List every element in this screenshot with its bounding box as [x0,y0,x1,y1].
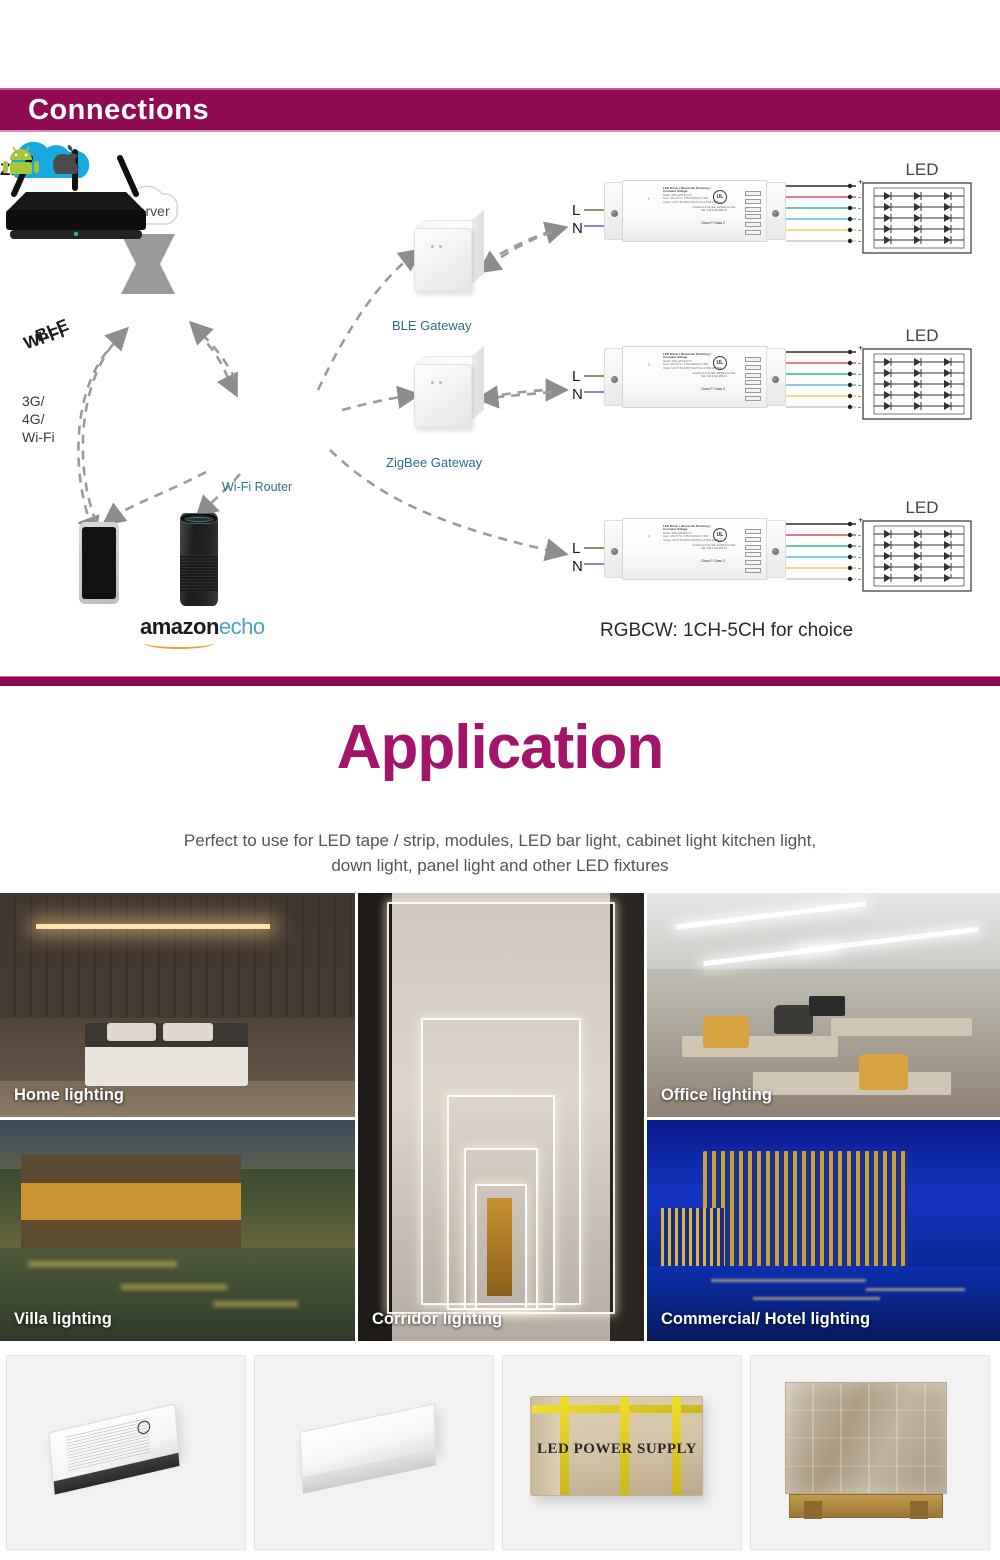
driver-side-print: IN [647,535,650,538]
ac-terminal-n-3: N [572,558,583,575]
connections-banner: Connections [0,88,1000,132]
led-array-2: LED [862,348,982,426]
photo-home-lighting: Home lighting [0,893,355,1117]
office-desk [753,1072,951,1094]
router-label: Wi-Fi Router [222,480,292,494]
svg-text:-: - [858,541,861,551]
ac-terminal-n-1: N [572,220,583,237]
application-subtitle-line2: down light, panel light and other LED fi… [100,853,900,878]
svg-text:-: - [858,192,861,202]
photo-caption: Home lighting [14,1086,124,1105]
gateway-side-face [472,346,484,420]
gateway-led-indicators [431,245,451,248]
packaging-photo-row: LED POWER SUPPLY [0,1355,1000,1560]
class-2: Class 2 [714,559,725,563]
led-driver-3: IN LED Driver ( Bluetooth Dimming ) Cons… [604,518,786,580]
smartphone-icon [79,522,119,604]
led-block-title: LED [862,326,982,346]
water-reflection [753,1297,880,1300]
cove-light-strip [36,924,270,929]
driver-output-terminals [745,191,761,235]
cellular-line-2: 4G/ [22,410,55,428]
section-divider [0,676,1000,686]
adjacent-building [661,1208,725,1265]
driver-class-markings: Class P Class 2 [691,559,735,564]
class-2: Class 2 [714,221,725,225]
driver-output: Output: 12V/7.5A 60W P.W.M 5CH & 50W-WW5… [663,367,722,370]
driver-body: IN LED Driver ( Bluetooth Dimming ) Cons… [622,346,768,408]
led-array-schematic [862,520,982,596]
application-subtitle-line1: Perfect to use for LED tape / strip, mod… [100,828,900,853]
driver-product-photo [48,1403,179,1485]
driver-body: IN LED Driver ( Bluetooth Dimming ) Cons… [622,518,768,580]
phone-screen [82,527,116,599]
driver-body: IN LED Driver ( Bluetooth Dimming ) Cons… [622,180,768,242]
cellular-line-3: Wi-Fi [22,428,55,446]
driver-output: Output: 12V/7.5A 60W P.W.M 5CH & 50W-WW5… [663,539,722,542]
ac-terminal-l-1: L [572,202,580,219]
driver-screw [772,376,779,383]
office-chair [774,1005,813,1034]
office-chair [859,1054,908,1090]
pool-reflection [28,1261,177,1267]
packaging-led-driver-unit [6,1355,246,1550]
driver-screw [772,210,779,217]
driver-mount-ear-left [604,348,624,406]
driver-subtitle: Constant Voltage [663,189,687,193]
driver-output-terminals [745,357,761,401]
svg-text:-: - [858,203,861,213]
echo-light-ring [185,517,213,522]
led-array-schematic [862,348,982,424]
driver-class-markings: Class P Class 2 [691,387,735,392]
ble-gateway-label: BLE Gateway [392,318,472,333]
svg-text:-: - [858,574,861,584]
svg-text:-: - [858,552,861,562]
gateway-front-face [414,364,472,428]
led-block-title: LED [862,160,982,180]
svg-text:-: - [858,391,861,401]
driver-subtitle: Constant Voltage [663,355,687,359]
svg-text:-: - [858,214,861,224]
zigbee-gateway-label: ZigBee Gateway [386,455,482,470]
ac-terminal-l-3: L [572,540,580,557]
packaging-export-carton: LED POWER SUPPLY [502,1355,742,1550]
wooden-skid [789,1494,943,1518]
zigbee-gateway-icon [414,356,488,430]
led-array-3: LED [862,520,982,598]
banner-title: Connections [0,94,209,127]
class-p: Class P [701,559,713,563]
svg-text:-: - [858,402,861,412]
cellular-label: 3G/ 4G/ Wi-Fi [22,392,55,446]
ul-mark-icon: UL [713,356,727,370]
photo-caption: Villa lighting [14,1310,112,1329]
ul-caption: Conforms to UL Std. Certified to CSA Std… [691,372,737,378]
photo-corridor-lighting: Corridor lighting [358,893,644,1341]
photo-caption: Office lighting [661,1086,772,1105]
amazon-echo-icon [180,513,218,606]
driver-screw [611,548,618,555]
packaging-white-box [254,1355,494,1550]
svg-text:-: - [858,369,861,379]
led-driver-1: IN LED Driver ( Bluetooth Dimming ) Cons… [604,180,786,242]
ac-terminal-l-2: L [572,368,580,385]
pallet-photo [785,1382,947,1522]
photo-villa-lighting: Villa lighting [0,1120,355,1341]
driver-screw [611,210,618,217]
led-driver-2: IN LED Driver ( Bluetooth Dimming ) Cons… [604,346,786,408]
class-p: Class P [701,387,713,391]
class-p: Class P [701,221,713,225]
driver-mount-ear-right [766,520,786,578]
ac-terminal-n-2: N [572,386,583,403]
photo-office-lighting: Office lighting [647,893,1000,1117]
apple-icon [53,145,79,174]
pool-reflection [213,1301,298,1307]
driver-mount-ear-right [766,182,786,240]
ul-mark-icon: UL [713,190,727,204]
water-reflection [866,1288,965,1291]
driver-mount-ear-right [766,348,786,406]
pillow [107,1023,157,1041]
photo-caption: Corridor lighting [372,1310,502,1329]
ble-gateway-icon [414,220,488,294]
gateway-front-face [414,228,472,292]
ul-caption: Conforms to UL Std. Certified to CSA Std… [691,206,737,212]
driver-side-print: IN [647,363,650,366]
photo-hotel-lighting: Commercial/ Hotel lighting [647,1120,1000,1341]
office-desk [831,1018,972,1036]
packaging-pallet [750,1355,990,1550]
pillow [163,1023,213,1041]
svg-text:-: - [858,225,861,235]
ul-mark-icon: UL [713,528,727,542]
svg-text:-: - [858,563,861,573]
platform-logos [0,140,200,174]
svg-text:-: - [858,380,861,390]
cellular-line-1: 3G/ [22,392,55,410]
led-block-title: LED [862,498,982,518]
application-subtitle: Perfect to use for LED tape / strip, mod… [100,828,900,878]
driver-mount-ear-left [604,182,624,240]
shrink-wrap-sheen [786,1383,946,1493]
driver-output-terminals [745,529,761,573]
driver-class-markings: Class P Class 2 [691,221,735,226]
pool-reflection [121,1284,228,1290]
amazon-smile-icon [144,637,214,649]
driver-side-print: IN [647,197,650,200]
bedroom-wall [0,893,355,1018]
hotel-tower [703,1151,908,1266]
gateway-led-indicators [431,381,451,384]
svg-text:-: - [858,530,861,540]
ul-caption: Conforms to UL Std. Certified to CSA Std… [691,544,737,550]
application-title: Application [0,712,1000,783]
connections-diagram: Server Internet 3G/ 4G/ Wi-Fi Wi-Fi Rout… [0,140,1000,675]
led-array-schematic [862,182,982,258]
gateway-side-face [472,210,484,284]
driver-mount-ear-left [604,520,624,578]
svg-text:-: - [858,358,861,368]
android-icon [3,147,39,174]
photo-caption: Commercial/ Hotel lighting [661,1310,870,1329]
echo-word: echo [219,614,265,639]
amazon-word: amazon [140,614,219,639]
led-array-1: LED [862,182,982,260]
application-photo-grid: Home lighting Corridor lighting Office l… [0,893,1000,1341]
driver-screw [772,548,779,555]
echo-top-ring [180,513,218,524]
carton-stack [785,1382,947,1494]
water-reflection [711,1279,866,1282]
gift-box-photo [300,1403,437,1478]
driver-subtitle: Constant Voltage [663,527,687,531]
echo-speaker-mesh [180,555,218,591]
villa-house [21,1155,241,1248]
driver-output: Output: 12V/7.5A 60W P.W.M 5CH & 50W-WW5… [663,201,722,204]
svg-text:-: - [858,236,861,246]
carton-text: LED POWER SUPPLY [532,1441,702,1458]
corridor-end-door [487,1198,513,1297]
class-2: Class 2 [714,387,725,391]
carton-photo: LED POWER SUPPLY [531,1396,703,1496]
monitor [809,996,844,1016]
office-chair [703,1016,749,1047]
channel-note: RGBCW: 1CH-5CH for choice [600,620,853,642]
waterfront [647,1266,1000,1341]
driver-screw [611,376,618,383]
